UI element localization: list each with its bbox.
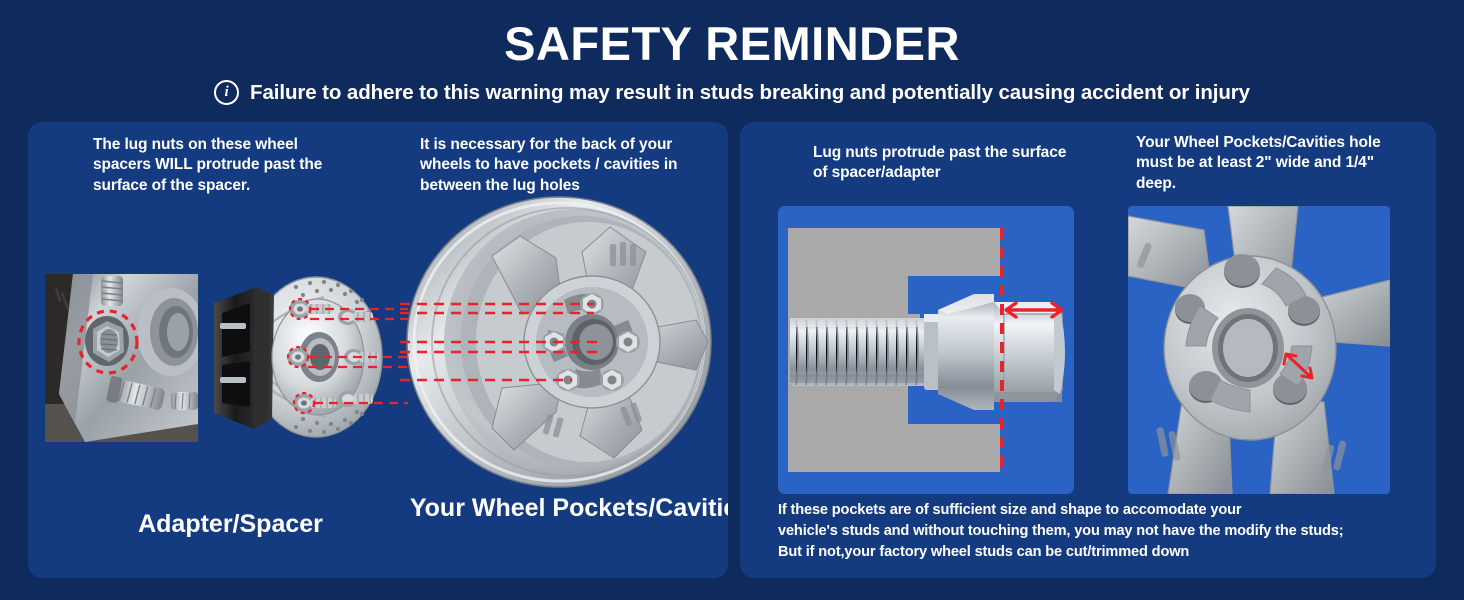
footer-line-1: If these pockets are of sufficient size … [778,500,1423,521]
left-heading-1: The lug nuts on these wheel spacers WILL… [93,135,333,196]
left-heading-2: It is necessary for the back of your whe… [420,135,700,196]
footer-line-2: vehicle's studs and without touching the… [778,521,1423,542]
brake-rotor-hub-assembly [208,257,408,457]
caption-your-wheel-pockets: Your Wheel Pockets/Cavities [408,494,728,523]
panel-right: Lug nuts protrude past the surface of sp… [740,122,1436,578]
footer-line-3: But if not,your factory wheel studs can … [778,542,1423,563]
right-heading-2: Your Wheel Pockets/Cavities hole must be… [1136,133,1406,194]
info-circle-icon: i [214,80,239,105]
page-title: SAFETY REMINDER [0,0,1464,67]
caption-adapter-spacer: Adapter/Spacer [58,510,403,539]
right-heading-1: Lug nuts protrude past the surface of sp… [813,143,1073,184]
wheel-back-view [396,192,726,492]
panel-left: The lug nuts on these wheel spacers WILL… [28,122,728,578]
subtitle-text: Failure to adhere to this warning may re… [250,81,1250,105]
right-footer-text: If these pockets are of sufficient size … [778,500,1423,563]
header: SAFETY REMINDER i Failure to adhere to t… [0,0,1464,118]
wheel-pocket-photo [1128,206,1390,494]
wheel-spacer-photo [45,274,198,442]
panels-container: The lug nuts on these wheel spacers WILL… [0,122,1464,578]
subtitle-row: i Failure to adhere to this warning may … [0,80,1464,105]
lug-bolt-cross-section-diagram [778,206,1074,494]
